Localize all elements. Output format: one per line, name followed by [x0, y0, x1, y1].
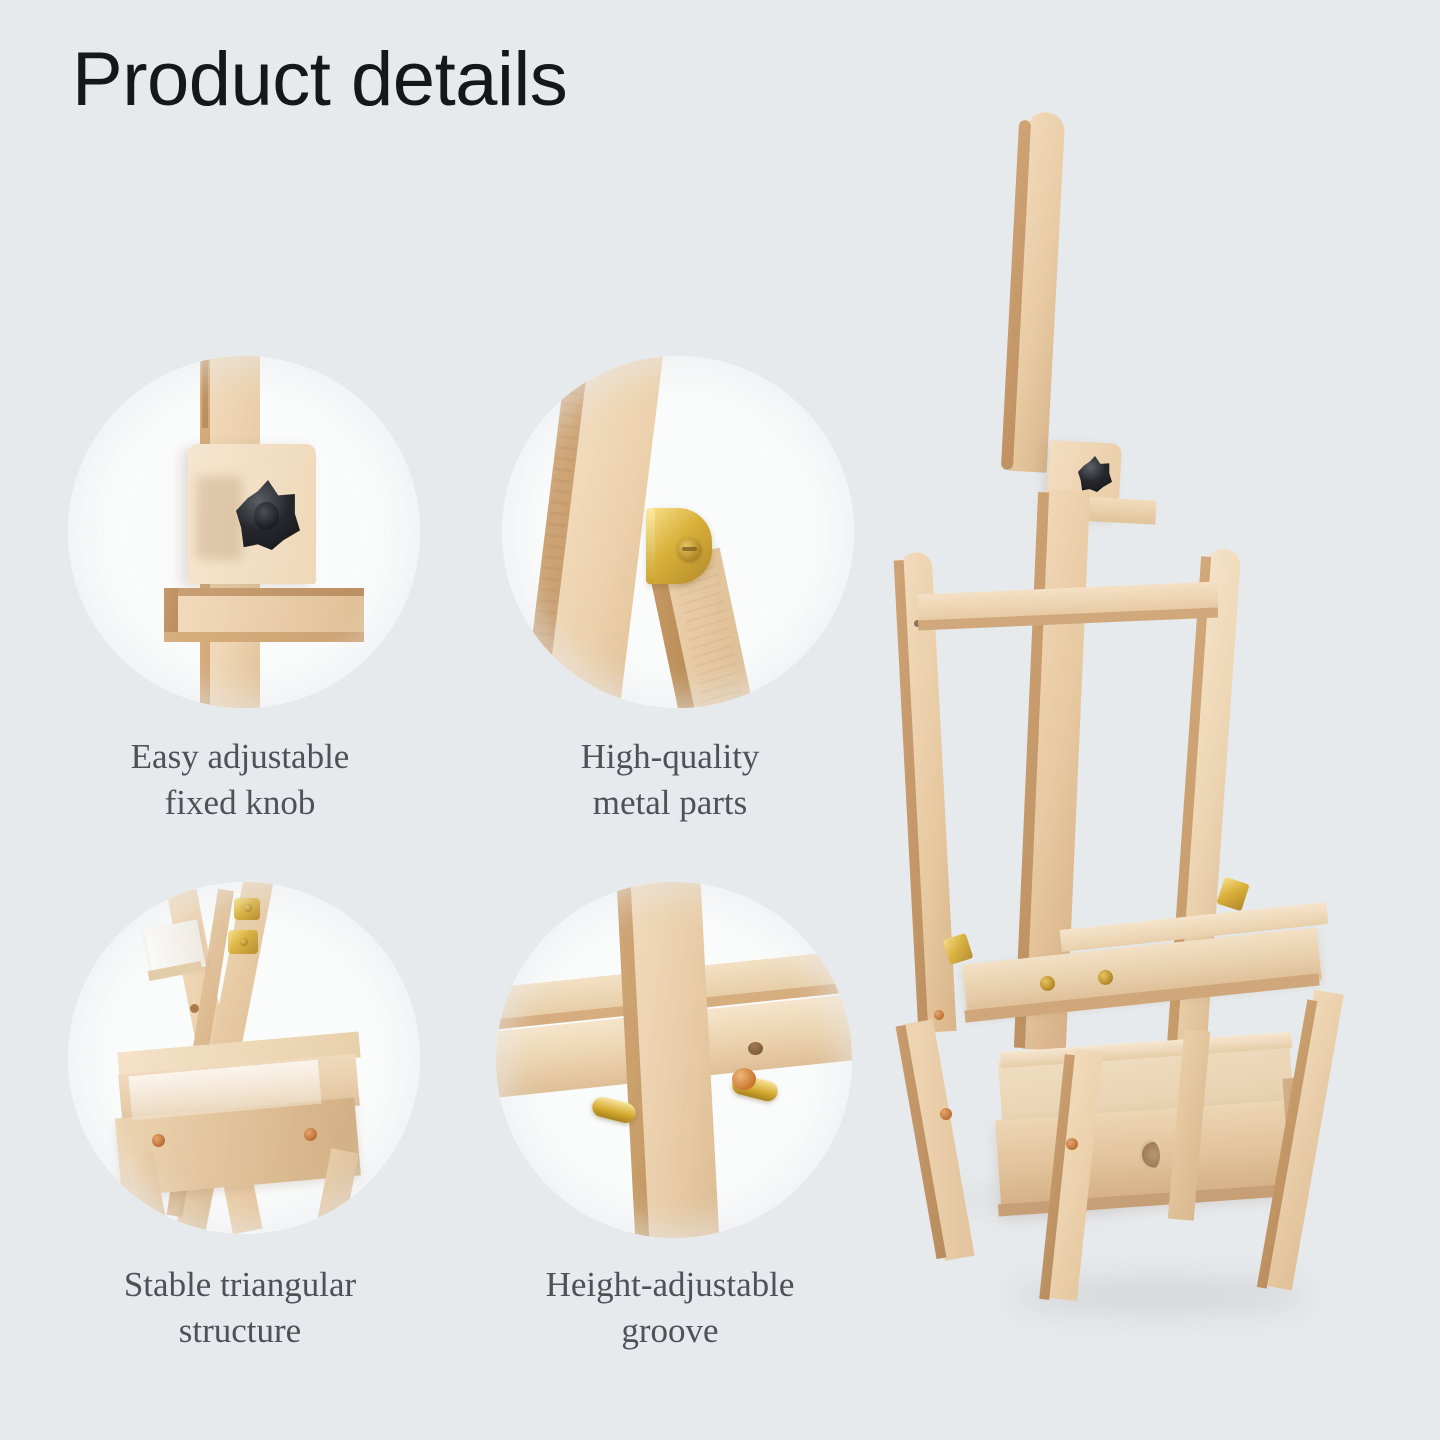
- detail-photo-height-adjustable-groove: [496, 882, 852, 1238]
- caption-line-1: Stable triangular: [0, 1262, 480, 1308]
- detail-caption-height-adjustable-groove: Height-adjustable groove: [430, 1262, 910, 1354]
- caption-line-2: structure: [0, 1308, 480, 1354]
- detail-card-triangular-structure: Stable triangular structure: [0, 520, 480, 1400]
- caption-line-1: Height-adjustable: [430, 1262, 910, 1308]
- detail-card-height-adjustable-groove: Height-adjustable groove: [430, 520, 910, 1400]
- caption-line-2: groove: [430, 1308, 910, 1354]
- product-details-page: Product details Easy adjustable: [0, 0, 1440, 1440]
- product-photo-easel: [890, 90, 1410, 1370]
- detail-photo-triangular-structure: [68, 882, 420, 1234]
- detail-caption-triangular-structure: Stable triangular structure: [0, 1262, 480, 1354]
